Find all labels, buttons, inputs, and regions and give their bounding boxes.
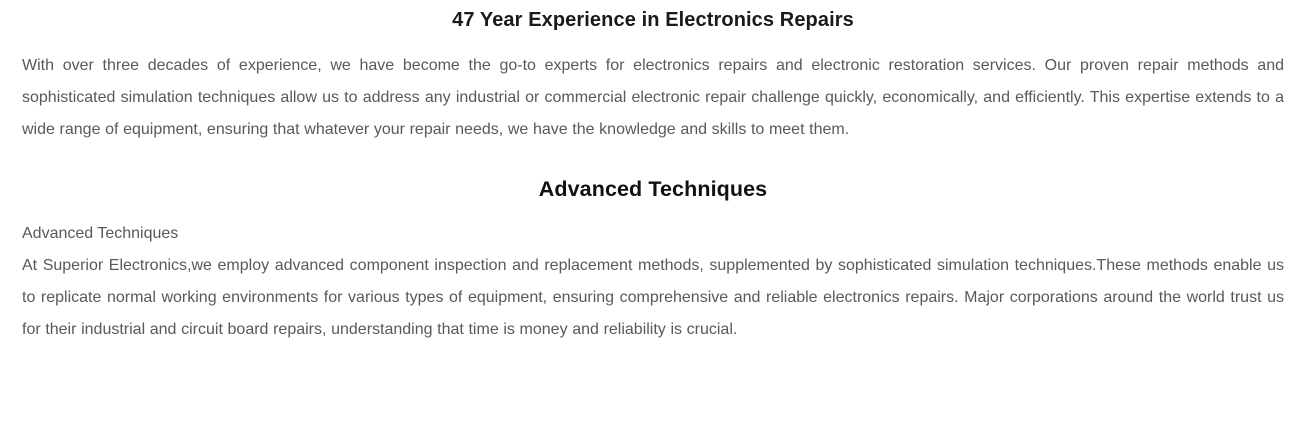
document-content: 47 Year Experience in Electronics Repair… bbox=[0, 6, 1298, 346]
section-heading-advanced-techniques: Advanced Techniques bbox=[22, 174, 1284, 204]
lead-line-advanced-techniques: Advanced Techniques bbox=[22, 218, 1284, 250]
paragraph-advanced-techniques: At Superior Electronics,we employ advanc… bbox=[22, 250, 1284, 346]
paragraph-experience: With over three decades of experience, w… bbox=[22, 50, 1284, 146]
page-title-experience: 47 Year Experience in Electronics Repair… bbox=[22, 6, 1284, 34]
page-root: 47 Year Experience in Electronics Repair… bbox=[0, 6, 1298, 441]
advanced-techniques-block: Advanced Techniques At Superior Electron… bbox=[22, 218, 1284, 346]
